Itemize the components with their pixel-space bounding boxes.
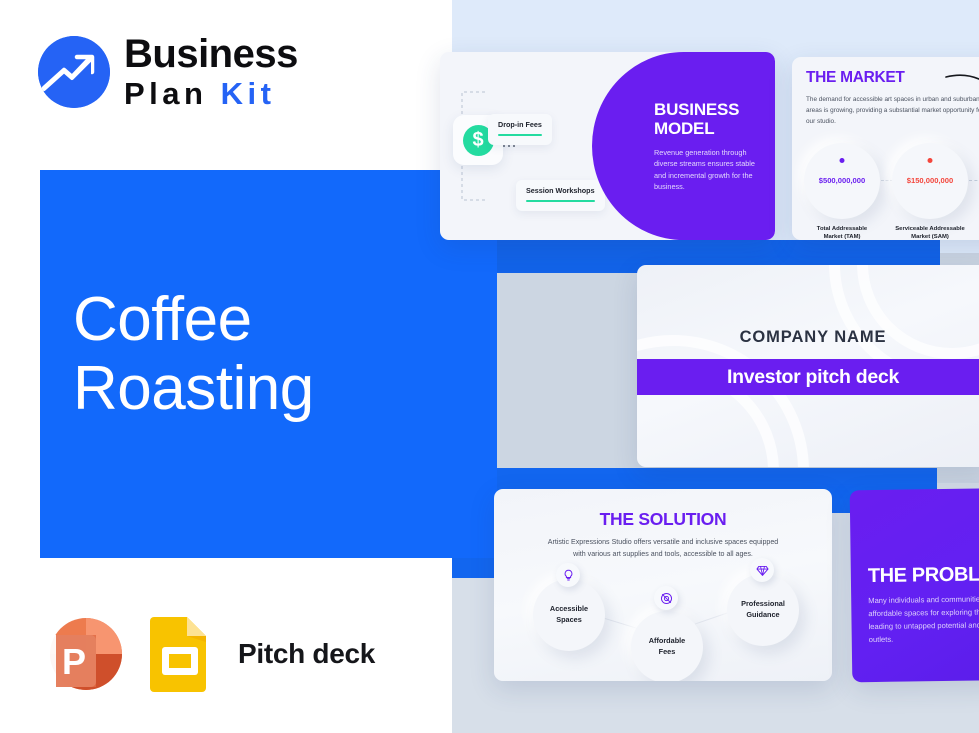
slide-card-problem[interactable]: THE PROBLEM Many individuals and communi…: [850, 488, 979, 683]
slide-card-solution[interactable]: THE SOLUTION Artistic Expressions Studio…: [494, 489, 832, 681]
market-body: The demand for accessible art spaces in …: [806, 94, 979, 127]
poster-canvas: Business Plan Kit Coffee Roasting P: [0, 0, 979, 733]
target-circle-icon: [654, 586, 678, 610]
metric-dot: [840, 158, 845, 163]
logo-line-business: Business: [124, 34, 298, 74]
slide-card-business-model[interactable]: $ Drop-in Fees Session Workshops Commiss…: [440, 52, 775, 240]
market-metric-value: $150,000,000: [892, 176, 968, 185]
logo-line-plan-kit: Plan Kit: [124, 78, 298, 109]
caption-line-1: Serviceable Addressable: [888, 225, 972, 233]
label-line-2: Fees: [659, 647, 676, 656]
solution-node[interactable]: Affordable Fees: [631, 611, 703, 681]
brand-wordmark: Business Plan Kit: [124, 34, 298, 109]
lightbulb-icon: [556, 563, 580, 587]
svg-text:P: P: [62, 641, 86, 682]
google-slides-icon: [148, 615, 212, 693]
metric-dot: [928, 158, 933, 163]
business-model-item-label: Session Workshops: [526, 186, 595, 195]
label-line-2: Guidance: [746, 610, 779, 619]
item-underline: [498, 134, 542, 136]
logo-word-kit: Kit: [221, 76, 276, 111]
diamond-icon: [750, 558, 774, 582]
label-line-1: Professional: [741, 599, 785, 608]
microsoft-powerpoint-icon: P: [38, 608, 130, 700]
growth-chart-circle-icon: [38, 36, 110, 108]
problem-title: THE PROBLEM: [868, 563, 979, 588]
business-model-item[interactable]: Session Workshops: [516, 180, 605, 211]
hero-title-line-1: Coffee: [73, 285, 473, 354]
market-title: THE MARKET: [806, 69, 905, 87]
caption-line-2: Market (TAM): [800, 233, 884, 240]
hero-title-line-2: Roasting: [73, 354, 473, 423]
investor-headline-band: Investor pitch deck: [637, 359, 979, 395]
problem-body: Many individuals and communities lack ac…: [868, 592, 979, 647]
market-metric-circle[interactable]: $500,000,000: [804, 143, 880, 219]
caption-line-1: Total Addressable: [800, 225, 884, 233]
solution-title: THE SOLUTION: [494, 509, 832, 530]
investor-headline: Investor pitch deck: [727, 366, 899, 389]
label-line-2: Spaces: [556, 615, 582, 624]
format-badges-label: Pitch deck: [238, 638, 375, 670]
market-metric-caption: Serviceable Addressable Market (SAM): [888, 225, 972, 240]
item-underline: [526, 200, 595, 202]
business-model-title-line-1: BUSINESS: [654, 100, 766, 119]
label-line-1: Accessible: [550, 604, 588, 613]
slide-card-market[interactable]: THE MARKET The demand for accessible art…: [792, 57, 979, 240]
solution-node[interactable]: Accessible Spaces: [533, 579, 605, 651]
business-model-item-label: Drop-in Fees: [498, 120, 542, 129]
solution-node-label: Professional Guidance: [741, 599, 785, 620]
solution-node-label: Affordable Fees: [649, 636, 686, 657]
market-metric-caption: Total Addressable Market (TAM): [800, 225, 884, 240]
slide-card-investor-pitch-deck[interactable]: COMPANY NAME Investor pitch deck: [637, 265, 979, 467]
solution-node-label: Accessible Spaces: [550, 604, 588, 625]
market-metric-circle[interactable]: $150,000,000: [892, 143, 968, 219]
business-model-title-line-2: MODEL: [654, 119, 766, 138]
solution-node[interactable]: Professional Guidance: [727, 574, 799, 646]
investor-company-name: COMPANY NAME: [637, 328, 979, 347]
format-badges: P Pitch deck: [38, 608, 375, 700]
business-model-item[interactable]: Drop-in Fees: [488, 114, 552, 145]
solution-body: Artistic Expressions Studio offers versa…: [547, 536, 779, 560]
market-metric-value: $500,000,000: [804, 176, 880, 185]
hero-title: Coffee Roasting: [73, 285, 473, 424]
logo-word-plan: Plan: [124, 76, 207, 111]
business-model-body: Revenue generation through diverse strea…: [654, 147, 766, 192]
business-model-purple-panel: BUSINESS MODEL Revenue generation throug…: [592, 52, 775, 240]
brand-logo: Business Plan Kit: [38, 34, 298, 109]
caption-line-2: Market (SAM): [888, 233, 972, 240]
market-connector: [969, 180, 979, 181]
label-line-1: Affordable: [649, 636, 686, 645]
business-model-title: BUSINESS MODEL: [654, 100, 766, 138]
